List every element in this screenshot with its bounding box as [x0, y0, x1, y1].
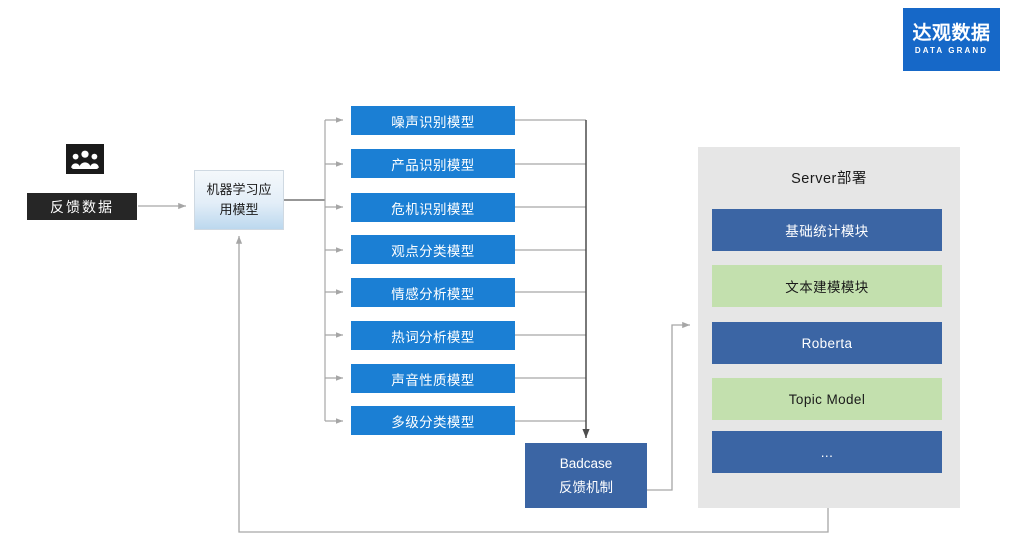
brand-logo: 达观数据 DATA GRAND [903, 8, 1000, 71]
connector-ml-to-trunk [284, 120, 325, 421]
model-box[interactable]: 声音性质模型 [351, 364, 515, 393]
brand-logo-en: DATA GRAND [915, 46, 988, 55]
model-box[interactable]: 危机识别模型 [351, 193, 515, 222]
ml-application-model-node[interactable]: 机器学习应 用模型 [194, 170, 284, 230]
ml-node-label-line2: 用模型 [219, 200, 258, 220]
brand-logo-cn: 达观数据 [912, 24, 990, 44]
server-module-box[interactable]: 基础统计模块 [712, 209, 942, 251]
model-box[interactable]: 情感分析模型 [351, 278, 515, 307]
model-box[interactable]: 噪声识别模型 [351, 106, 515, 135]
model-box[interactable]: 观点分类模型 [351, 235, 515, 264]
model-box[interactable]: 产品识别模型 [351, 149, 515, 178]
model-box[interactable]: 多级分类模型 [351, 406, 515, 435]
connector-model-branches [325, 120, 343, 421]
ml-node-label-line1: 机器学习应 [206, 180, 271, 200]
server-module-box[interactable]: Topic Model [712, 378, 942, 420]
server-module-box[interactable]: ... [712, 431, 942, 473]
connector-models-to-badcase [515, 120, 586, 438]
server-module-box[interactable]: Roberta [712, 322, 942, 364]
badcase-label-line2: 反馈机制 [559, 476, 613, 500]
server-panel-title: Server部署 [698, 167, 960, 188]
badcase-feedback-node[interactable]: Badcase 反馈机制 [525, 443, 647, 508]
model-box[interactable]: 热词分析模型 [351, 321, 515, 350]
server-module-box[interactable]: 文本建模模块 [712, 265, 942, 307]
connector-badcase-to-server [647, 325, 690, 490]
people-group-icon [66, 144, 104, 174]
badcase-label-line1: Badcase [560, 452, 613, 476]
source-data-label: 反馈数据 [27, 193, 137, 220]
